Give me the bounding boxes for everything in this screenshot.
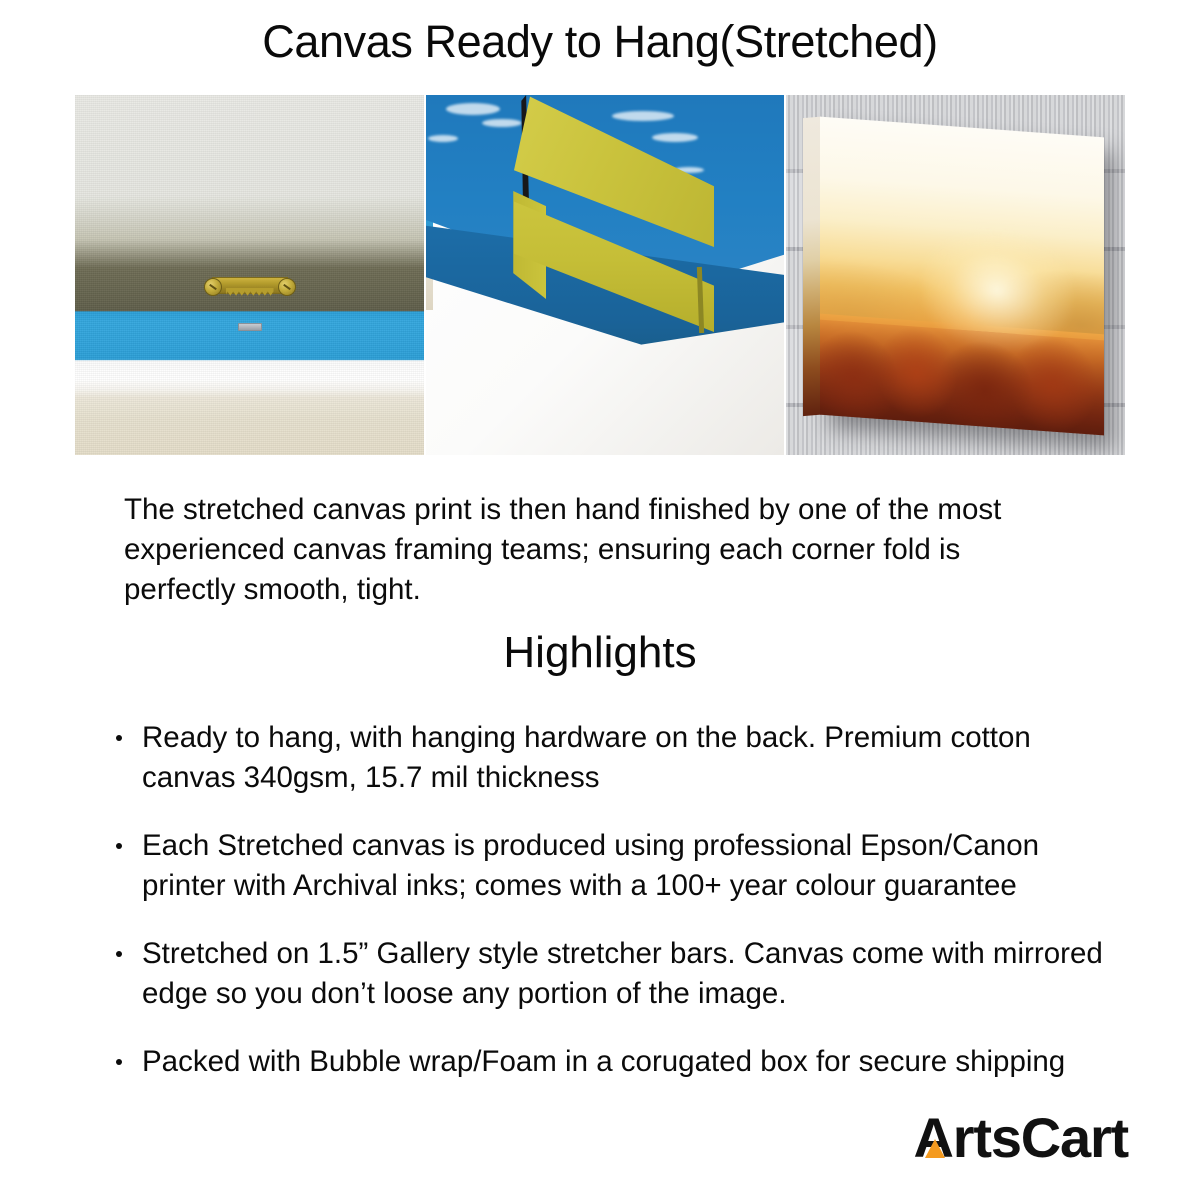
bullet-dot-icon (116, 951, 122, 957)
hanger-screw-left (204, 278, 222, 296)
brand-logo-text: ArtsCart (914, 1110, 1128, 1166)
bullet-dot-icon (116, 735, 122, 741)
highlights-list: Ready to hang, with hanging hardware on … (110, 718, 1110, 1082)
list-item: Each Stretched canvas is produced using … (110, 826, 1110, 906)
photo-canvas-corner-fold (426, 95, 784, 455)
product-photo-strip (75, 95, 1125, 455)
list-item: Stretched on 1.5” Gallery style stretche… (110, 934, 1110, 1014)
list-item: Ready to hang, with hanging hardware on … (110, 718, 1110, 798)
list-item-text: Each Stretched canvas is produced using … (142, 829, 1039, 902)
list-item: Packed with Bubble wrap/Foam in a coruga… (110, 1042, 1110, 1082)
photo-canvas-back-hanging-hardware (75, 95, 424, 455)
intro-paragraph: The stretched canvas print is then hand … (124, 490, 1074, 610)
bullet-dot-icon (116, 1059, 122, 1065)
list-item-text: Stretched on 1.5” Gallery style stretche… (142, 937, 1103, 1010)
list-item-text: Packed with Bubble wrap/Foam in a coruga… (142, 1045, 1065, 1078)
hung-stretched-canvas (820, 117, 1104, 436)
hanger-teeth (226, 288, 274, 296)
bullet-dot-icon (116, 843, 122, 849)
brand-logo: ArtsCart (914, 1110, 1128, 1166)
list-item-text: Ready to hang, with hanging hardware on … (142, 721, 1031, 794)
canvas-staple (238, 323, 262, 331)
page-title: Canvas Ready to Hang(Stretched) (0, 14, 1200, 70)
logo-triangle-icon (925, 1139, 945, 1158)
hanger-screw-right (278, 278, 296, 296)
photo-canvas-hung-on-wall (786, 95, 1125, 455)
highlights-heading: Highlights (0, 626, 1200, 680)
canvas-depth-side (803, 117, 821, 417)
sawtooth-hanger-icon (204, 276, 296, 297)
